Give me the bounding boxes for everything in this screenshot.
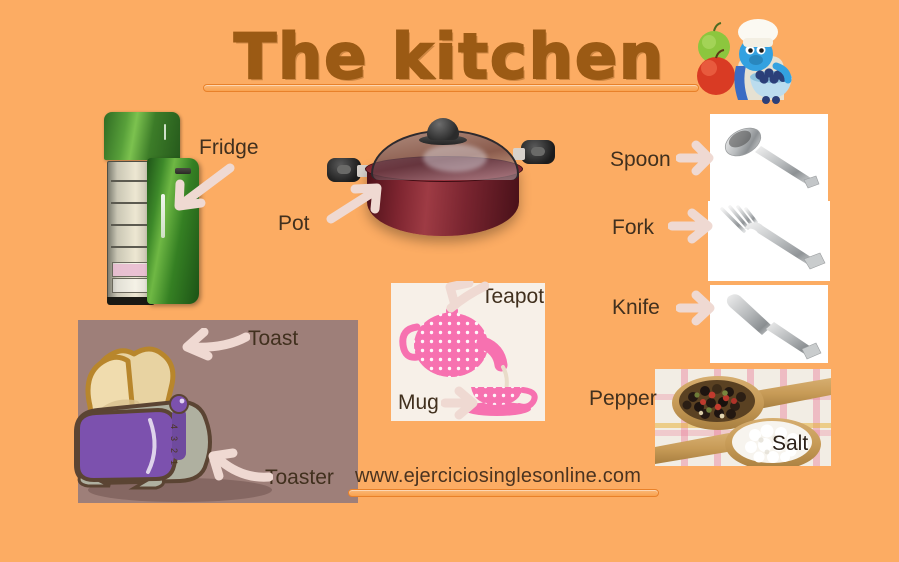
label-mug: Mug (398, 391, 439, 415)
label-salt: Salt (772, 432, 808, 456)
label-pot: Pot (278, 212, 310, 236)
label-pepper: Pepper (589, 387, 657, 411)
svg-text:4: 4 (169, 424, 179, 429)
pot-handle-left (327, 158, 361, 182)
knife-icon (710, 285, 828, 363)
fridge-door (147, 158, 199, 304)
fork-icon (708, 201, 830, 281)
footer-divider (348, 489, 659, 497)
poster-canvas: The kitchen (0, 0, 899, 562)
pot-illustration (327, 118, 555, 245)
label-knife: Knife (612, 296, 660, 320)
toaster-illustration: 4 3 2 1 (72, 332, 292, 507)
fork-photo-card (708, 201, 830, 281)
label-spoon: Spoon (610, 148, 671, 172)
pot-knob (427, 118, 459, 140)
svg-text:3: 3 (169, 436, 179, 441)
label-fridge: Fridge (199, 136, 259, 160)
title-divider (203, 84, 699, 92)
svg-text:1: 1 (169, 460, 179, 465)
svg-text:2: 2 (169, 448, 179, 453)
site-url: www.ejerciciosinglesonline.com (355, 465, 641, 488)
smurf-chef-icon (690, 16, 800, 106)
label-fork: Fork (612, 216, 654, 240)
spoon-icon (710, 114, 828, 201)
fridge-freezer-door (104, 112, 180, 160)
pot-handle-right (521, 140, 555, 164)
knife-photo-card (710, 285, 828, 363)
label-teapot: Teapot (481, 285, 544, 309)
label-toast: Toast (248, 327, 298, 351)
spoon-photo-card (710, 114, 828, 201)
fridge-illustration (104, 112, 194, 302)
label-toaster: Toaster (265, 466, 334, 490)
